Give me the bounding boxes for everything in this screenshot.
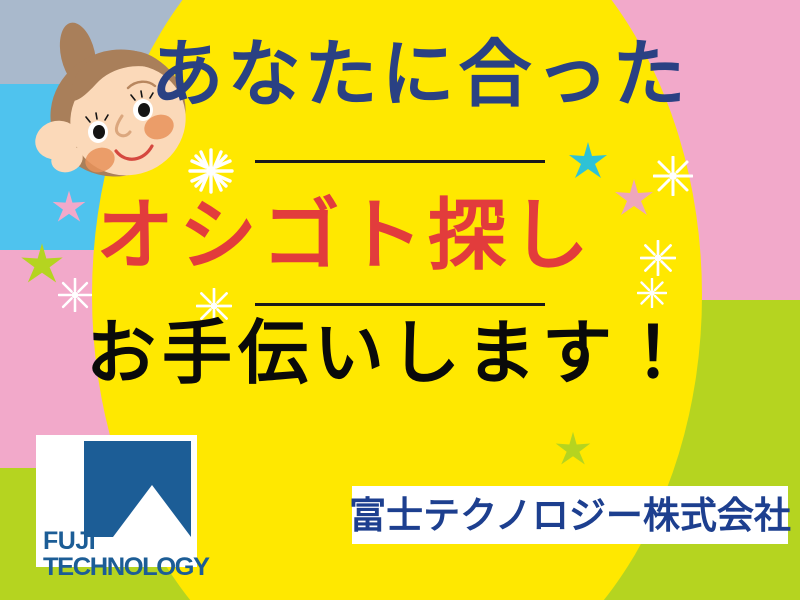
fuji-technology-wordmark: FUJI TECHNOLOGY: [43, 529, 195, 580]
company-name-text: 富士テクノロジー株式会社: [349, 497, 791, 534]
divider-bottom: [255, 303, 545, 306]
headline-line-1: あなたに合った: [0, 38, 800, 111]
headline-line-2: オシゴト探し: [0, 196, 800, 274]
fuji-technology-logo: FUJI TECHNOLOGY: [36, 435, 197, 567]
job-ad-banner: あなたに合った オシゴト探し お手伝いします！ FUJI TECHNOLOGY …: [0, 0, 800, 600]
logo-text-line-2: TECHNOLOGY: [43, 555, 198, 581]
divider-top: [255, 160, 545, 163]
mount-fuji-mark-icon: [84, 441, 191, 537]
company-name-banner: 富士テクノロジー株式会社: [352, 486, 788, 544]
logo-text-line-1: FUJI: [43, 529, 195, 555]
headline-line-3: お手伝いします！: [0, 318, 800, 388]
